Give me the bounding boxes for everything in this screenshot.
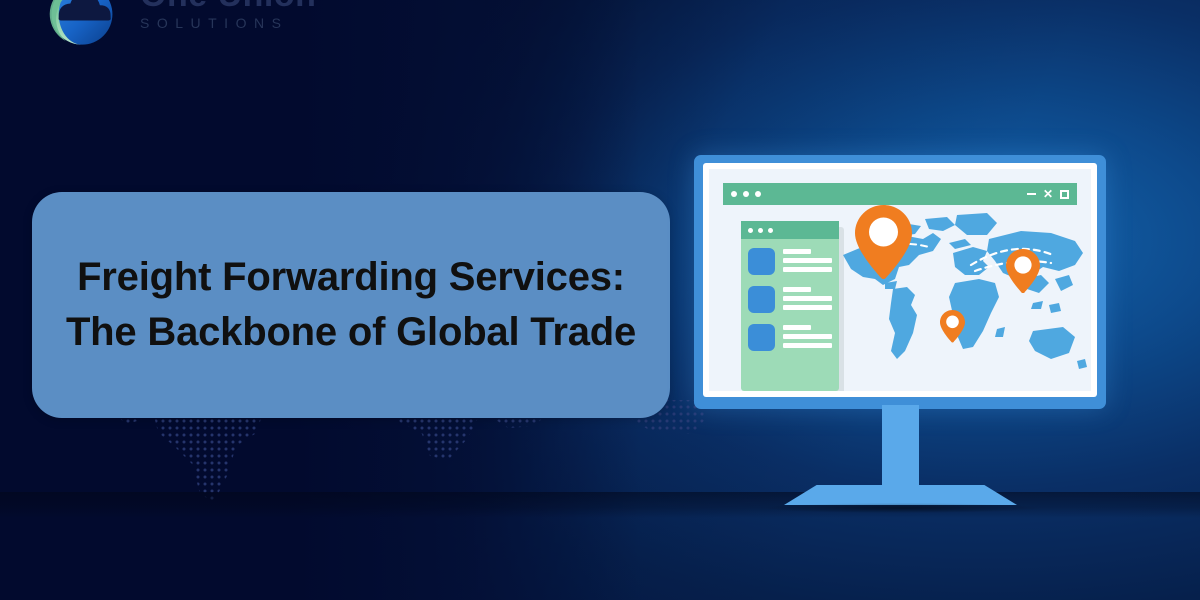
globe-cloud-logo-icon [34, 0, 130, 50]
card-dot [748, 228, 753, 233]
text-line [783, 334, 832, 339]
map-pin-small-icon[interactable] [940, 310, 965, 343]
placeholder-text-lines [783, 324, 832, 351]
maximize-icon[interactable] [1060, 190, 1069, 199]
hero-banner: One Union SOLUTIONS Freight Forwarding S… [0, 0, 1200, 600]
hero-title-panel: Freight Forwarding Services: The Backbon… [32, 192, 670, 418]
text-line [783, 287, 811, 292]
blue-square-thumbnail [748, 286, 775, 313]
window-controls[interactable]: ✕ [1027, 188, 1069, 200]
blue-square-thumbnail [748, 248, 775, 275]
monitor-stand-base [784, 485, 1017, 505]
monitor-inner-frame: ✕ [703, 163, 1097, 397]
map-pin-large-icon[interactable] [855, 205, 912, 279]
list-item[interactable] [748, 286, 832, 313]
traffic-light-dot [755, 191, 761, 197]
text-line [783, 258, 832, 263]
list-item[interactable] [748, 324, 832, 351]
card-titlebar [741, 221, 839, 239]
app-window-titlebar: ✕ [723, 183, 1077, 205]
monitor-screen: ✕ [709, 169, 1091, 391]
card-row-list [741, 239, 839, 391]
monitor-illustration: ✕ [694, 155, 1106, 500]
monitor-bezel: ✕ [694, 155, 1106, 409]
brand-logo[interactable]: One Union SOLUTIONS [24, 0, 334, 54]
brand-logo-text: One Union SOLUTIONS [140, 0, 316, 32]
card-dot [758, 228, 763, 233]
page-title: Freight Forwarding Services: The Backbon… [32, 250, 670, 360]
map-pin-medium-icon[interactable] [1006, 249, 1040, 293]
text-line [783, 325, 811, 330]
text-line [783, 249, 811, 254]
card-dot [768, 228, 773, 233]
traffic-light-dot [743, 191, 749, 197]
blue-square-thumbnail [748, 324, 775, 351]
text-line [783, 296, 832, 301]
traffic-light-dot [731, 191, 737, 197]
text-line [783, 267, 832, 272]
close-icon[interactable]: ✕ [1043, 188, 1053, 200]
minimize-icon[interactable] [1027, 193, 1036, 195]
text-line [783, 305, 832, 310]
text-line [783, 343, 832, 348]
placeholder-text-lines [783, 248, 832, 275]
monitor-base-shadow [764, 503, 1039, 513]
brand-name: One Union [140, 0, 316, 14]
list-item[interactable] [748, 248, 832, 275]
titlebar-traffic-lights[interactable] [731, 191, 761, 197]
sidebar-list-card [741, 221, 839, 391]
placeholder-text-lines [783, 286, 832, 313]
brand-tagline: SOLUTIONS [140, 14, 316, 32]
